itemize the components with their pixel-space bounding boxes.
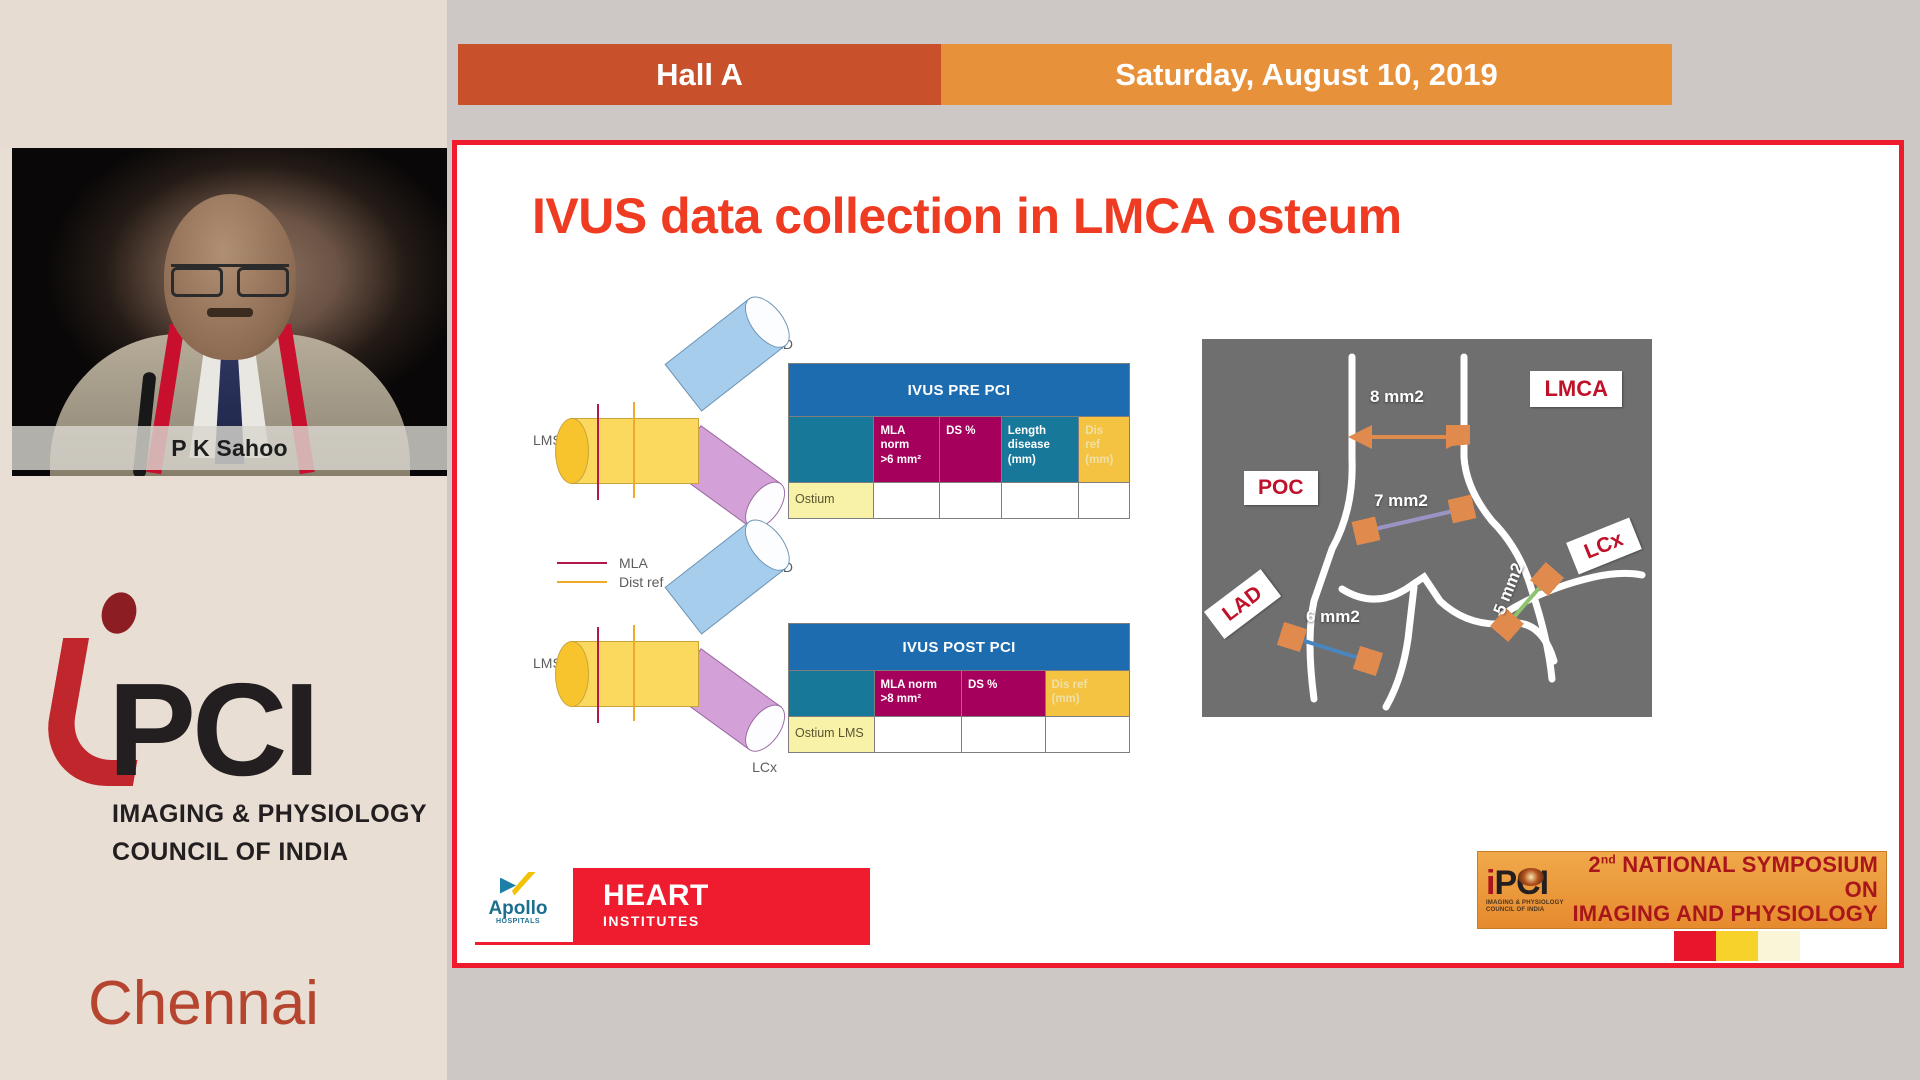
glasses-icon (171, 264, 289, 290)
table-header-mla-norm: MLA norm >6 mm² (874, 416, 940, 482)
symposium-ordinal-suffix: nd (1601, 853, 1616, 867)
row-label-ostium: Ostium (789, 482, 874, 518)
city-label: Chennai (88, 968, 319, 1039)
speaker-name-caption: P K Sahoo (12, 426, 447, 470)
apollo-wordmark: Apollo (488, 899, 547, 918)
apollo-subtext: HOSPITALS (496, 918, 540, 925)
ivus-post-pci-table: IVUS POST PCI MLA norm >8 mm² DS % Dis r… (788, 623, 1130, 753)
hdr-line: >6 mm² (880, 453, 933, 467)
symposium-acronym-sub2: COUNCIL OF INDIA (1486, 907, 1570, 915)
symposium-acronym-sub1: IMAGING & PHYSIOLOGY (1486, 900, 1570, 908)
angio-label-poc: POC (1244, 471, 1318, 505)
brand-color-strip (1587, 931, 1887, 961)
lms-tube (571, 418, 699, 484)
strip-red (1674, 931, 1716, 961)
symposium-line1-rest: NATIONAL SYMPOSIUM ON (1616, 852, 1878, 902)
measurement-8mm2: 8 mm2 (1370, 387, 1424, 407)
table-header-mla-norm: MLA norm >8 mm² (875, 670, 962, 716)
screen: P K Sahoo PCI IMAGING & PHYSIOLOGY COUNC… (0, 0, 1920, 1080)
ivus-pre-pci-table: IVUS PRE PCI MLA norm >6 mm² DS % Length… (788, 363, 1130, 519)
table-row: Ostium (789, 482, 1129, 518)
angio-label-lmca: LMCA (1530, 371, 1622, 407)
cell-dis-ref[interactable] (1079, 482, 1129, 518)
symposium-ipci-logo: iPCI IMAGING & PHYSIOLOGY COUNCIL OF IND… (1478, 866, 1570, 915)
heart-line1: HEART (603, 881, 709, 911)
hdr-line: Length (1008, 424, 1073, 438)
apollo-heart-institutes-banner: Apollo HOSPITALS HEART INSTITUTES (475, 868, 870, 945)
measurement-6mm2: 6 mm2 (1306, 607, 1360, 627)
lms-tube-cap (555, 641, 589, 707)
hdr-line: ref (1085, 438, 1123, 452)
hdr-line: (mm) (1085, 453, 1123, 467)
mla-marker-line (597, 404, 599, 500)
mla-marker-line (597, 627, 599, 723)
table-header-ds-percent: DS % (962, 670, 1046, 716)
symposium-title: 2nd NATIONAL SYMPOSIUM ON IMAGING AND PH… (1570, 853, 1886, 927)
table-title: IVUS POST PCI (789, 624, 1129, 670)
ipci-tagline-line2: COUNCIL OF INDIA (112, 838, 349, 867)
apollo-mark-icon (498, 872, 538, 898)
speaker-video-thumbnail[interactable]: P K Sahoo (12, 148, 447, 476)
symposium-line1: 2nd NATIONAL SYMPOSIUM ON (1570, 853, 1878, 902)
lms-tube (571, 641, 699, 707)
lcx-tube-cap (737, 698, 793, 759)
dist-ref-marker-line (633, 402, 635, 498)
hdr-line: norm (880, 438, 933, 452)
row-label-ostium-lms: Ostium LMS (789, 716, 875, 752)
cell-ds-percent[interactable] (962, 716, 1046, 752)
cell-length-disease[interactable] (1002, 482, 1080, 518)
hdr-line: >8 mm² (881, 692, 955, 706)
table-header-blank (789, 416, 874, 482)
vessel-label-lcx: LCx (752, 759, 777, 775)
table-header-ds-percent: DS % (940, 416, 1002, 482)
cell-ds-percent[interactable] (940, 482, 1002, 518)
ipci-eye-icon (1518, 868, 1544, 886)
cell-mla-norm[interactable] (874, 482, 940, 518)
hdr-line: DS % (946, 424, 995, 438)
hdr-line: Dis (1085, 424, 1123, 438)
strip-yellow (1716, 931, 1758, 961)
heart-line2: INSTITUTES (603, 913, 709, 929)
cell-dis-ref[interactable] (1046, 716, 1130, 752)
lad-tube (665, 298, 787, 412)
session-header: Hall A Saturday, August 10, 2019 (458, 44, 1672, 105)
hall-label: Hall A (656, 57, 743, 93)
table-title: IVUS PRE PCI (789, 364, 1129, 416)
heart-institutes-wordmark: HEART INSTITUTES (603, 881, 709, 929)
ipci-logo: PCI IMAGING & PHYSIOLOGY COUNCIL OF INDI… (40, 588, 430, 858)
symposium-banner: iPCI IMAGING & PHYSIOLOGY COUNCIL OF IND… (1477, 851, 1887, 929)
symposium-line2: IMAGING AND PHYSIOLOGY (1570, 902, 1878, 927)
sidebar-top-strip (0, 0, 447, 148)
speaker-mustache (207, 308, 253, 317)
ipci-acronym: PCI (108, 664, 316, 796)
presentation-slide[interactable]: IVUS data collection in LMCA osteum LMS … (452, 140, 1904, 968)
hdr-line: MLA (880, 424, 933, 438)
left-sidebar: P K Sahoo PCI IMAGING & PHYSIOLOGY COUNC… (0, 0, 447, 1080)
table-header-row: MLA norm >6 mm² DS % Length disease (mm)… (789, 416, 1129, 482)
date-badge: Saturday, August 10, 2019 (941, 44, 1672, 105)
table-header-dis-ref: Dis ref (mm) (1046, 670, 1130, 716)
table-header-dis-ref: Dis ref (mm) (1079, 416, 1129, 482)
coronary-angiogram-illustration: LMCA POC LAD LCx 8 mm2 7 mm2 6 mm2 5 mm2 (1202, 339, 1652, 717)
hdr-line: DS % (968, 678, 1039, 692)
hdr-line: (mm) (1008, 453, 1073, 467)
strip-cream (1758, 931, 1800, 961)
apollo-mark-gold (512, 872, 536, 896)
table-header-row: MLA norm >8 mm² DS % Dis ref (mm) (789, 670, 1129, 716)
dist-ref-marker-line (633, 625, 635, 721)
table-header-length-disease: Length disease (mm) (1002, 416, 1080, 482)
hall-badge: Hall A (458, 44, 941, 105)
hdr-line: Dis ref (1052, 678, 1124, 692)
table-header-blank (789, 670, 875, 716)
ipci-tagline-line1: IMAGING & PHYSIOLOGY (112, 800, 427, 829)
slide-title: IVUS data collection in LMCA osteum (532, 187, 1402, 245)
post-pci-vessel-diagram: LMS LAD LCx (535, 563, 795, 773)
strip-white (1587, 931, 1674, 961)
ipci-i-dot-icon (96, 588, 141, 638)
hdr-line: disease (1008, 438, 1073, 452)
hdr-line: MLA norm (881, 678, 955, 692)
date-label: Saturday, August 10, 2019 (1115, 57, 1497, 93)
strip-white-2 (1800, 931, 1887, 961)
cell-mla-norm[interactable] (875, 716, 962, 752)
speaker-name: P K Sahoo (171, 435, 287, 462)
symposium-ordinal-number: 2 (1588, 852, 1600, 877)
hdr-line: (mm) (1052, 692, 1124, 706)
measurement-7mm2: 7 mm2 (1374, 491, 1428, 511)
apollo-hospitals-logo: Apollo HOSPITALS (463, 854, 573, 942)
lms-tube-cap (555, 418, 589, 484)
table-row: Ostium LMS (789, 716, 1129, 752)
